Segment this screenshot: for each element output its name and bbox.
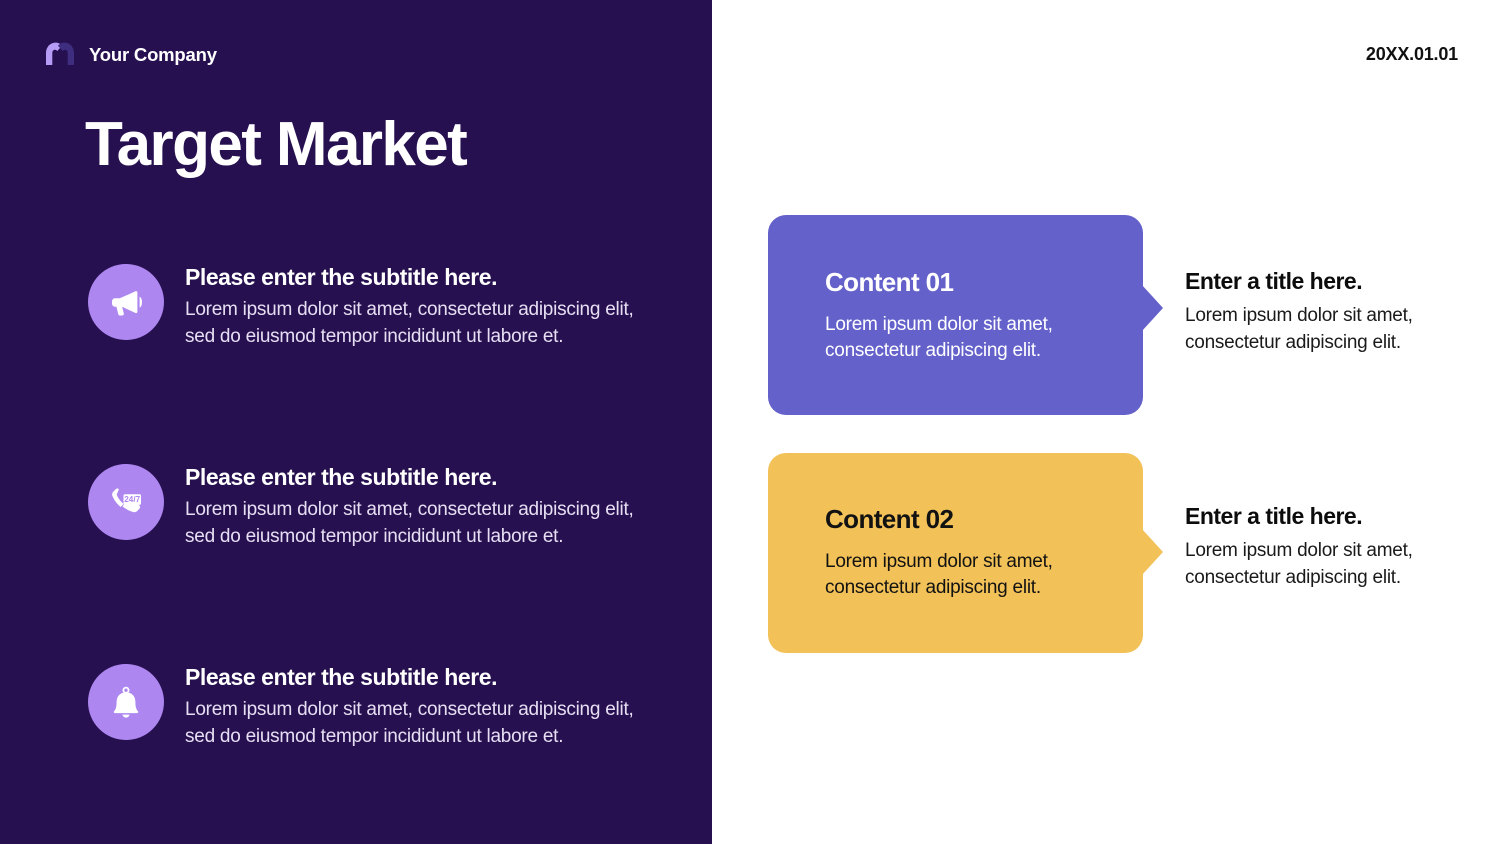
feature-text-3: Please enter the subtitle here. Lorem ip… (185, 658, 655, 751)
content-card-description: Lorem ipsum dolor sit amet, consectetur … (825, 549, 1113, 601)
feature-title: Please enter the subtitle here. (185, 264, 655, 291)
feature-description: Lorem ipsum dolor sit amet, consectetur … (185, 297, 655, 351)
bell-icon (88, 664, 164, 740)
card-tail-arrow (1142, 529, 1163, 575)
side-note-title: Enter a title here. (1185, 268, 1455, 295)
content-card-title: Content 01 (825, 267, 1113, 298)
side-note-1: Enter a title here. Lorem ipsum dolor si… (1185, 268, 1455, 356)
feature-title: Please enter the subtitle here. (185, 464, 655, 491)
feature-item-1: Please enter the subtitle here. Lorem ip… (88, 258, 668, 351)
feature-item-3: Please enter the subtitle here. Lorem ip… (88, 658, 668, 751)
feature-description: Lorem ipsum dolor sit amet, consectetur … (185, 497, 655, 551)
side-note-title: Enter a title here. (1185, 503, 1455, 530)
phone-24-7-icon: 24/7 (88, 464, 164, 540)
side-note-2: Enter a title here. Lorem ipsum dolor si… (1185, 503, 1455, 591)
content-card-2-text: Content 02 Lorem ipsum dolor sit amet, c… (825, 504, 1113, 601)
side-note-description: Lorem ipsum dolor sit amet, consectetur … (1185, 538, 1455, 591)
content-card-2[interactable]: Content 02 Lorem ipsum dolor sit amet, c… (768, 453, 1143, 653)
svg-text:24/7: 24/7 (124, 495, 140, 504)
feature-list: Please enter the subtitle here. Lorem ip… (88, 258, 668, 751)
m-monogram-logo-icon (43, 38, 77, 72)
slide-date: 20XX.01.01 (1366, 44, 1458, 65)
page-title: Target Market (85, 112, 466, 177)
feature-text-2: Please enter the subtitle here. Lorem ip… (185, 458, 655, 551)
slide-canvas: Your Company Target Market Please enter … (0, 0, 1500, 844)
feature-title: Please enter the subtitle here. (185, 664, 655, 691)
content-card-1-text: Content 01 Lorem ipsum dolor sit amet, c… (825, 267, 1113, 364)
content-card-title: Content 02 (825, 504, 1113, 535)
feature-text-1: Please enter the subtitle here. Lorem ip… (185, 258, 655, 351)
content-card-description: Lorem ipsum dolor sit amet, consectetur … (825, 312, 1113, 364)
feature-description: Lorem ipsum dolor sit amet, consectetur … (185, 697, 655, 751)
brand-lockup[interactable]: Your Company (43, 38, 217, 72)
feature-item-2: 24/7 Please enter the subtitle here. Lor… (88, 458, 668, 551)
card-tail-arrow (1142, 285, 1163, 331)
brand-name: Your Company (89, 44, 217, 66)
content-card-1[interactable]: Content 01 Lorem ipsum dolor sit amet, c… (768, 215, 1143, 415)
side-note-description: Lorem ipsum dolor sit amet, consectetur … (1185, 303, 1455, 356)
megaphone-icon (88, 264, 164, 340)
